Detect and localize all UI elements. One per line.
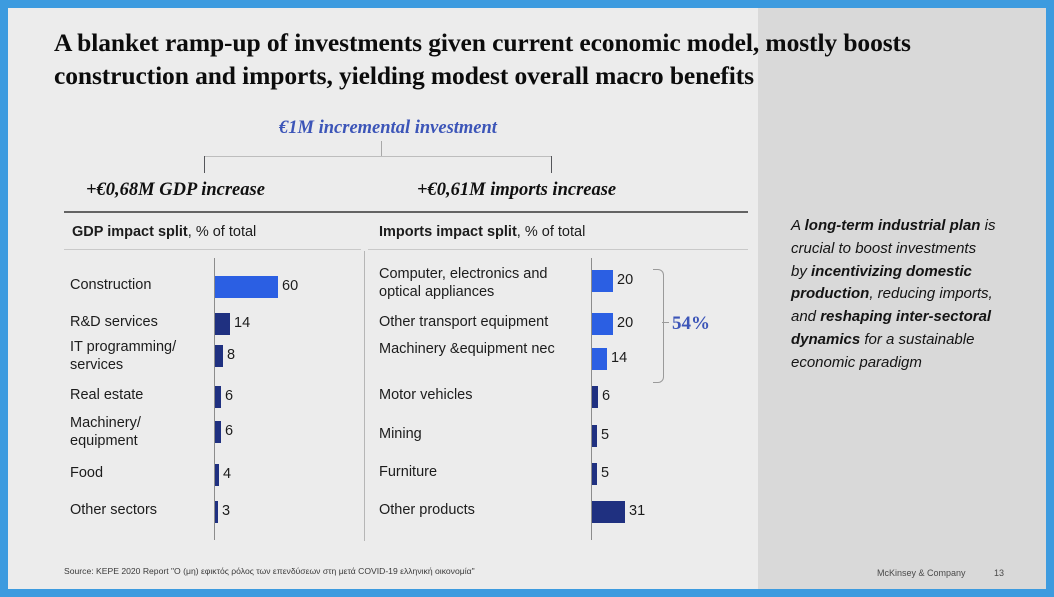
bar (215, 345, 223, 367)
bar (215, 386, 221, 408)
row-label: Furniture (379, 463, 587, 481)
bar-value: 20 (617, 272, 633, 288)
row-label: Other transport equipment (379, 313, 587, 331)
gdp-column-header-bold: GDP impact split (72, 224, 188, 240)
bar-value: 20 (617, 315, 633, 331)
bar (592, 463, 597, 485)
bracket-tick-right (551, 156, 552, 173)
row-label: Food (70, 464, 212, 482)
row-label: Machinery/ equipment (70, 414, 212, 450)
bar-value: 60 (282, 278, 298, 294)
header-rule (64, 211, 748, 213)
commentary-seg-2: long-term industrial plan (805, 217, 981, 234)
bracket-stem (381, 141, 382, 157)
bar (215, 313, 230, 335)
bar (215, 421, 221, 443)
imports-column-header-rest: , % of total (517, 224, 586, 240)
imports-column-header: Imports impact split, % of total (379, 224, 585, 240)
row-label: Computer, electronics and optical applia… (379, 265, 587, 301)
bar (592, 425, 597, 447)
bar-value: 6 (225, 388, 233, 404)
bar (215, 276, 278, 298)
row-label: Other products (379, 501, 587, 519)
top-three-brace (653, 269, 664, 383)
gdp-header-underline (64, 249, 361, 250)
commentary-seg-1: A (791, 217, 805, 234)
bar (592, 501, 625, 523)
bar-value: 14 (234, 315, 250, 331)
page-title: A blanket ramp-up of investments given c… (54, 26, 1034, 92)
row-label: Construction (70, 276, 212, 294)
bar-value: 6 (225, 423, 233, 439)
bar (592, 270, 613, 292)
bar-value: 4 (223, 466, 231, 482)
bar-value: 5 (601, 427, 609, 443)
bracket-tick-left (204, 156, 205, 173)
bar-value: 31 (629, 503, 645, 519)
page-number: 13 (994, 568, 1004, 578)
bar (215, 501, 218, 523)
brace-connector (662, 322, 669, 323)
gdp-column-header: GDP impact split, % of total (72, 224, 256, 240)
bar (592, 348, 607, 370)
imports-increase-label: +€0,61M imports increase (417, 180, 616, 201)
row-label: Mining (379, 425, 587, 443)
row-label: IT programming/ services (70, 338, 212, 374)
bar-value: 5 (601, 465, 609, 481)
commentary-text: A long-term industrial plan is crucial t… (791, 215, 996, 375)
slide: A blanket ramp-up of investments given c… (8, 8, 1046, 589)
bar (215, 464, 219, 486)
bar (592, 313, 613, 335)
incremental-investment-label: €1M incremental investment (128, 118, 648, 139)
brace-percentage-label: 54% (672, 313, 710, 335)
gdp-column-header-rest: , % of total (188, 224, 257, 240)
imports-column-header-bold: Imports impact split (379, 224, 517, 240)
gdp-increase-label: +€0,68M GDP increase (86, 180, 265, 201)
imports-header-underline (368, 249, 748, 250)
bar-value: 3 (222, 503, 230, 519)
row-label: R&D services (70, 313, 212, 331)
bracket-horizontal (204, 156, 552, 157)
bar-value: 14 (611, 350, 627, 366)
brand-label: McKinsey & Company (877, 568, 966, 578)
bar (592, 386, 598, 408)
column-divider (364, 251, 365, 541)
bar-value: 8 (227, 347, 235, 363)
source-note: Source: KEPE 2020 Report "Ο (μη) εφικτός… (64, 566, 475, 576)
row-label: Motor vehicles (379, 386, 587, 404)
bar-value: 6 (602, 388, 610, 404)
row-label: Machinery &equipment nec (379, 340, 587, 358)
row-label: Real estate (70, 386, 212, 404)
row-label: Other sectors (70, 501, 212, 519)
